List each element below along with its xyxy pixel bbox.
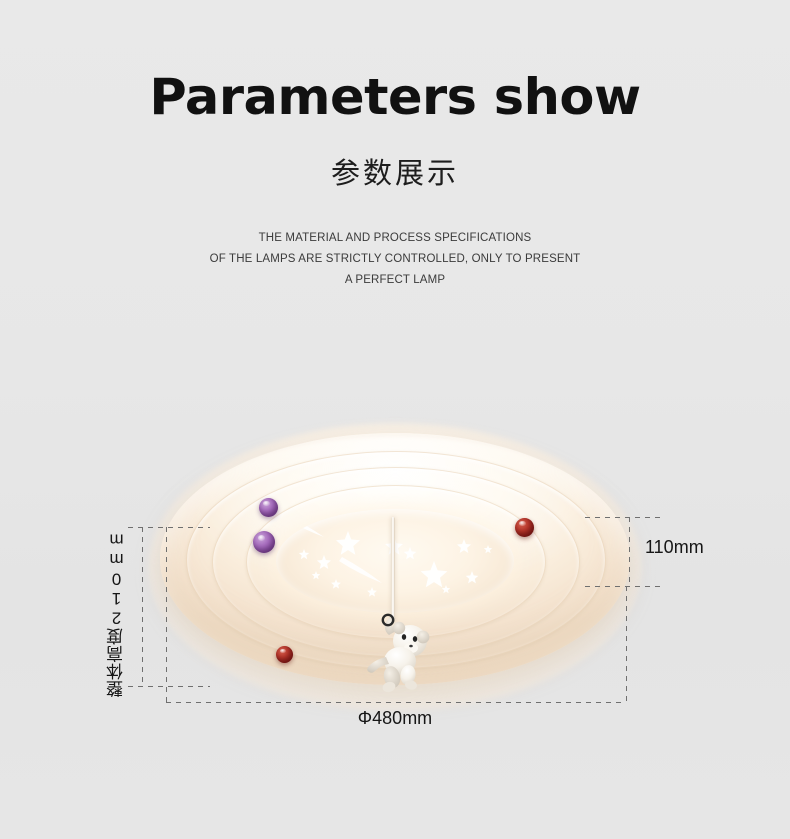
description-line-3: A PERFECT LAMP — [0, 270, 790, 291]
header: Parameters show 参数展示 THE MATERIAL AND PR… — [0, 0, 790, 292]
ceiling-lamp-image — [160, 433, 630, 701]
decor-ball-red-right — [515, 518, 534, 537]
pendant-cord — [391, 517, 395, 623]
product-stage — [0, 400, 790, 740]
page-title: Parameters show — [0, 0, 790, 122]
decor-ball-purple-upper — [259, 498, 278, 517]
decor-ball-red-lower-left — [276, 646, 293, 663]
description-block: THE MATERIAL AND PROCESS SPECIFICATIONS … — [0, 190, 790, 292]
page-subtitle-chinese: 参数展示 — [0, 122, 790, 190]
description-line-2: OF THE LAMPS ARE STRICTLY CONTROLLED, ON… — [0, 249, 790, 270]
page-content: Parameters show 参数展示 THE MATERIAL AND PR… — [0, 0, 790, 839]
description-line-1: THE MATERIAL AND PROCESS SPECIFICATIONS — [0, 228, 790, 249]
teddy-bear-pendant — [356, 611, 442, 695]
decor-ball-purple-lower — [253, 531, 275, 553]
star-diffuser-panel — [276, 509, 514, 613]
